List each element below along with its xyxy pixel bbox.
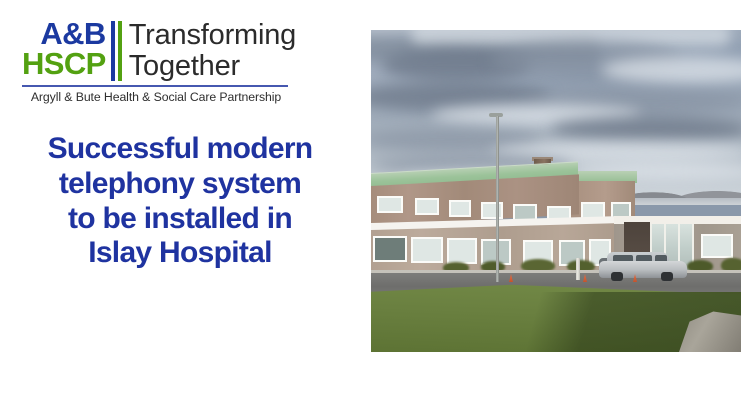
- headline-line-3: to be installed in: [0, 202, 360, 237]
- headline-line-4: Islay Hospital: [0, 236, 360, 271]
- logo-acronym-ab: A&B: [22, 20, 106, 49]
- logo-wordmark: Transforming Together: [129, 20, 296, 81]
- left-content-column: A&B HSCP Transforming Together Argyll & …: [0, 0, 360, 400]
- hscp-logo: A&B HSCP Transforming Together Argyll & …: [22, 20, 290, 104]
- window-upper: [449, 200, 471, 217]
- logo-word-transforming: Transforming: [129, 21, 296, 50]
- window-ground: [411, 237, 443, 263]
- logo-underline-rule: [22, 85, 288, 87]
- car-wheel: [611, 272, 623, 281]
- cloud: [551, 116, 741, 142]
- lamp-post: [496, 116, 499, 282]
- window-wing: [701, 234, 733, 258]
- logo-lockup-rows: A&B HSCP Transforming Together: [22, 20, 290, 81]
- headline-line-2: telephony system: [0, 167, 360, 202]
- window-upper: [377, 196, 403, 213]
- news-card: A&B HSCP Transforming Together Argyll & …: [0, 0, 750, 400]
- logo-divider-bars: [111, 21, 122, 81]
- logo-acronym-stack: A&B HSCP: [22, 20, 106, 78]
- logo-bar-green: [118, 21, 122, 81]
- bollard: [576, 258, 580, 280]
- hospital-photo: [371, 30, 741, 352]
- logo-tagline: Argyll & Bute Health & Social Care Partn…: [22, 90, 290, 104]
- window-ground: [447, 238, 477, 264]
- window-upper: [415, 198, 439, 215]
- parked-car: [599, 252, 687, 281]
- window-upper: [481, 202, 503, 219]
- window-ground: [373, 236, 407, 262]
- logo-acronym-hscp: HSCP: [22, 50, 106, 79]
- photo-scene: [371, 30, 741, 352]
- headline-line-1: Successful modern: [0, 132, 360, 167]
- headline: Successful modern telephony system to be…: [0, 132, 360, 271]
- logo-bar-blue: [111, 21, 115, 81]
- logo-word-together: Together: [129, 52, 296, 81]
- car-wheel: [661, 272, 673, 281]
